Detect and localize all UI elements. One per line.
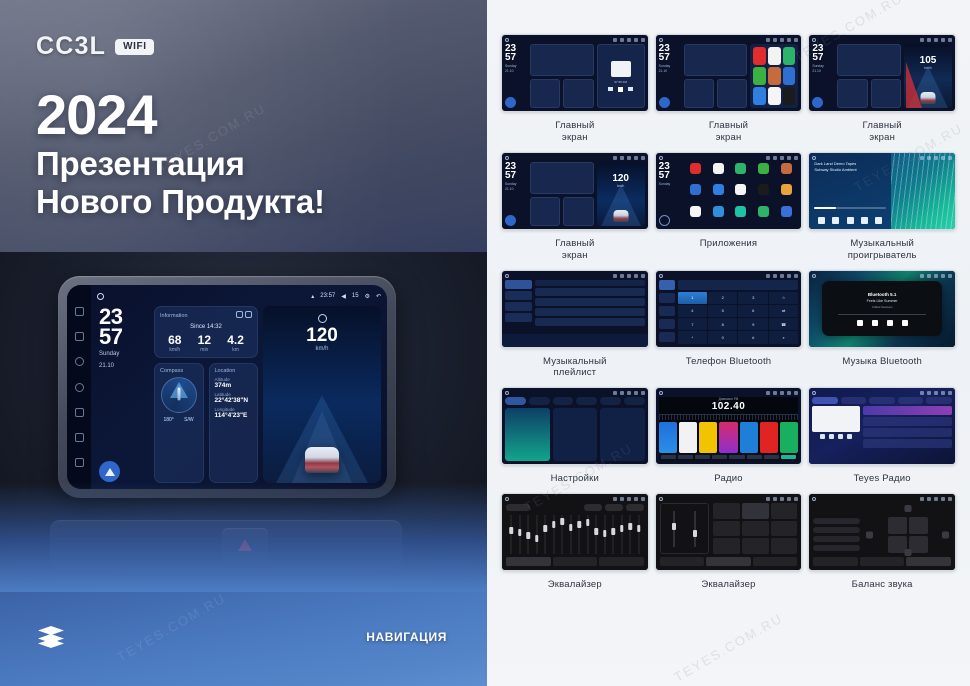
- dial-key[interactable]: ☆: [769, 292, 798, 304]
- dial-key[interactable]: 6: [738, 305, 767, 317]
- information-card[interactable]: [530, 44, 594, 76]
- back-icon[interactable]: [794, 497, 798, 501]
- playlist-tabs[interactable]: [535, 280, 645, 286]
- rail-next-icon[interactable]: [75, 332, 84, 341]
- app-icon[interactable]: [753, 87, 766, 105]
- thumb-bluetooth-phone-caption: Телефон Bluetooth: [686, 356, 772, 368]
- eq-band-slider[interactable]: [508, 515, 514, 554]
- gear-icon[interactable]: [941, 156, 945, 160]
- toolbar-button[interactable]: [712, 455, 727, 459]
- dial-key[interactable]: 0: [708, 331, 737, 343]
- app-icon[interactable]: [768, 67, 781, 85]
- tab-item[interactable]: [869, 397, 895, 404]
- dial-key[interactable]: ☎: [769, 318, 798, 330]
- app-icon[interactable]: [768, 47, 781, 65]
- eq-band-slider[interactable]: [550, 515, 556, 554]
- back-icon[interactable]: [948, 497, 952, 501]
- eq-band-slider[interactable]: [610, 515, 616, 554]
- home-icon[interactable]: [505, 391, 509, 395]
- preset-station[interactable]: [679, 422, 697, 453]
- home-icon[interactable]: [812, 274, 816, 278]
- list-item[interactable]: [535, 318, 645, 326]
- toolbar-button[interactable]: [729, 455, 744, 459]
- tab-item[interactable]: [926, 397, 952, 404]
- back-icon[interactable]: [641, 156, 645, 160]
- toolbar-button[interactable]: [764, 455, 779, 459]
- dial-key[interactable]: *: [678, 331, 707, 343]
- gallery-cell: 23 57 Sunday21.10 Главный экран: [655, 34, 803, 144]
- hud-panel[interactable]: 120 km/h: [597, 162, 645, 226]
- dial-key[interactable]: 7: [678, 318, 707, 330]
- option-row[interactable]: [813, 536, 860, 542]
- sidebar-item-favorites[interactable]: [505, 302, 532, 311]
- app-item[interactable]: [708, 206, 729, 225]
- information-card[interactable]: [684, 44, 748, 76]
- thumb-radio-caption: Радио: [714, 473, 742, 485]
- tab-fader[interactable]: [860, 557, 905, 566]
- tab-Wi-Fi[interactable]: [505, 397, 526, 405]
- navigation-button[interactable]: [812, 97, 823, 108]
- settings-tabs: [505, 397, 645, 405]
- preset-button[interactable]: [771, 503, 798, 519]
- thumb-home-screen-nav[interactable]: 23 57 Sunday21.10 120 km/h: [501, 152, 649, 230]
- eq-band-slider[interactable]: [559, 515, 565, 554]
- arrow-down-icon[interactable]: [904, 549, 911, 556]
- tab-equalizer[interactable]: [506, 557, 551, 566]
- dial-key[interactable]: 9: [738, 318, 767, 330]
- next-icon[interactable]: [861, 217, 868, 224]
- clock-column: 23 57 Sunday21.10: [505, 162, 527, 226]
- gallery-cell: Teyes Радио: [808, 387, 956, 485]
- app-icon[interactable]: [768, 87, 781, 105]
- arrow-left-icon[interactable]: [866, 531, 873, 538]
- pause-icon[interactable]: [847, 217, 854, 224]
- home-icon[interactable]: [505, 274, 509, 278]
- equalizer-footer-tabs: [506, 557, 644, 566]
- preset-button[interactable]: [742, 503, 769, 519]
- clock-icon: [773, 497, 777, 501]
- thumb-home-screen-media[interactable]: 23 57 Sunday21.10 97.50 FM: [501, 34, 649, 112]
- gear-icon[interactable]: [941, 497, 945, 501]
- thumb-music-playlist[interactable]: [501, 270, 649, 348]
- back-icon[interactable]: [641, 497, 645, 501]
- dial-key[interactable]: 8: [708, 318, 737, 330]
- information-card[interactable]: Information Since 14:32 68 km/h: [154, 306, 258, 358]
- eq-band-slider[interactable]: [627, 515, 633, 554]
- thumb-applications[interactable]: 23 57 Sunday: [655, 152, 803, 230]
- dial-key[interactable]: 3: [738, 292, 767, 304]
- compass-card[interactable]: Compass 180° S/W: [154, 363, 204, 483]
- navigation-button[interactable]: [99, 461, 120, 482]
- thumb-bluetooth-music[interactable]: Bluetooth 5.1 Feels Like Summer Chilled …: [808, 270, 956, 348]
- speaker-front-left[interactable]: [888, 517, 907, 534]
- car-graphic: [613, 210, 628, 222]
- dial-key[interactable]: 2: [708, 292, 737, 304]
- thumb-radio[interactable]: Диапазон FM 102.40: [655, 387, 803, 465]
- rail-back-icon[interactable]: [75, 408, 84, 417]
- app-item[interactable]: [776, 163, 797, 182]
- stop-icon[interactable]: [829, 434, 834, 439]
- back-icon[interactable]: [948, 274, 952, 278]
- dial-key[interactable]: 1: [678, 292, 707, 304]
- phone-number-field[interactable]: [678, 280, 799, 290]
- compass-card[interactable]: [530, 79, 560, 108]
- eq-band-slider[interactable]: [516, 515, 522, 554]
- speaker-rear-right[interactable]: [909, 536, 928, 553]
- home-icon[interactable]: [812, 497, 816, 501]
- back-icon[interactable]: [641, 391, 645, 395]
- next-icon[interactable]: [838, 434, 843, 439]
- preset-station[interactable]: [760, 422, 778, 453]
- thumb-home-screen-apps[interactable]: 23 57 Sunday21.10: [655, 34, 803, 112]
- dial-key[interactable]: ⌕: [769, 331, 798, 343]
- gear-icon[interactable]: [634, 274, 638, 278]
- tab-Звук[interactable]: [529, 397, 550, 405]
- search-icon[interactable]: [678, 455, 693, 459]
- refresh-icon[interactable]: [236, 311, 243, 318]
- progress-bar[interactable]: [838, 314, 926, 315]
- tab-balance[interactable]: [599, 557, 644, 566]
- tab-item[interactable]: [812, 397, 838, 404]
- clock-minutes: 57: [659, 53, 681, 62]
- eq-band-slider[interactable]: [567, 515, 573, 554]
- previous-icon[interactable]: [820, 434, 825, 439]
- list-item[interactable]: [535, 298, 645, 306]
- arrow-up-icon[interactable]: [904, 505, 911, 512]
- clock-icon: [620, 38, 624, 42]
- rail-power-icon[interactable]: [75, 357, 84, 366]
- app-item[interactable]: [685, 184, 706, 203]
- dial-key[interactable]: ⇄: [769, 305, 798, 317]
- clock-icon: [927, 38, 931, 42]
- player-controls[interactable]: [857, 320, 908, 326]
- thumb-applications-status-bar: [659, 155, 799, 161]
- preset-button[interactable]: [626, 504, 644, 511]
- gear-icon[interactable]: [634, 497, 638, 501]
- album-art: [611, 61, 631, 77]
- preset-button[interactable]: [771, 538, 798, 554]
- app-item[interactable]: [731, 163, 752, 182]
- list-item[interactable]: [535, 288, 645, 296]
- app-item[interactable]: [753, 163, 774, 182]
- sidebar-item-history[interactable]: [659, 319, 675, 329]
- location-card[interactable]: [563, 197, 593, 226]
- wifi-badge: WIFI: [115, 39, 154, 55]
- rail-home-icon[interactable]: [75, 383, 84, 392]
- fader-slider[interactable]: [673, 511, 675, 547]
- gallery-cell: 23 57 Sunday21.10 105 km/h Главный экран: [808, 34, 956, 144]
- gear-icon[interactable]: [787, 274, 791, 278]
- car-graphic: [305, 447, 339, 473]
- preset-station[interactable]: [659, 422, 677, 453]
- eq-band-slider[interactable]: [584, 515, 590, 554]
- location-card[interactable]: [717, 79, 747, 108]
- preset-button[interactable]: [771, 521, 798, 537]
- compass-card[interactable]: [684, 79, 714, 108]
- compass-card[interactable]: [837, 79, 867, 108]
- settings-card[interactable]: [600, 408, 645, 461]
- arrow-right-icon[interactable]: [942, 531, 949, 538]
- previous-icon[interactable]: [857, 320, 863, 326]
- back-icon[interactable]: [641, 38, 645, 42]
- tab-balance[interactable]: [753, 557, 798, 566]
- play-pause-icon[interactable]: [872, 320, 878, 326]
- navigation-button[interactable]: [505, 97, 516, 108]
- list-item[interactable]: [535, 308, 645, 316]
- tab-Общие[interactable]: [600, 397, 621, 405]
- dial-key[interactable]: #: [738, 331, 767, 343]
- volume-icon: [627, 156, 631, 160]
- hud-panel[interactable]: 105 km/h: [904, 44, 952, 108]
- toolbar-button[interactable]: [661, 455, 676, 459]
- thumb-equalizer-bands-status-bar: [505, 496, 645, 502]
- eq-band-slider[interactable]: [525, 515, 531, 554]
- preset-button[interactable]: [584, 504, 602, 511]
- home-icon[interactable]: [659, 274, 663, 278]
- home-icon[interactable]: [812, 391, 816, 395]
- back-icon[interactable]: [948, 156, 952, 160]
- gear-icon[interactable]: [634, 38, 638, 42]
- playlist-mini-player[interactable]: [502, 334, 648, 347]
- app-item[interactable]: [776, 206, 797, 225]
- option-row[interactable]: [813, 527, 860, 533]
- back-icon[interactable]: [794, 391, 798, 395]
- back-icon[interactable]: [794, 38, 798, 42]
- settings-icon[interactable]: ⚙: [365, 293, 370, 300]
- list-item[interactable]: [863, 428, 952, 437]
- tab-Система[interactable]: [553, 397, 574, 405]
- dial-key[interactable]: 5: [708, 305, 737, 317]
- preset-button[interactable]: [713, 503, 740, 519]
- eq-band-slider[interactable]: [576, 515, 582, 554]
- previous-icon[interactable]: [832, 217, 839, 224]
- toolbar-button-active[interactable]: [781, 455, 796, 459]
- sidebar-item-albums[interactable]: [505, 291, 532, 300]
- clock-icon: [927, 391, 931, 395]
- settings-card[interactable]: [553, 408, 598, 461]
- thumb-settings[interactable]: [501, 387, 649, 465]
- tab-balance[interactable]: [906, 557, 951, 566]
- information-card[interactable]: [530, 162, 594, 194]
- tab-equalizer[interactable]: [813, 557, 858, 566]
- app-item[interactable]: [776, 184, 797, 203]
- gear-icon[interactable]: [787, 156, 791, 160]
- thumb-equalizer-faders[interactable]: [655, 493, 803, 571]
- rail-prev-icon[interactable]: [75, 307, 84, 316]
- location-card[interactable]: [563, 79, 593, 108]
- preset-button[interactable]: [713, 538, 740, 554]
- location-card[interactable]: [871, 79, 901, 108]
- volume-icon: [780, 156, 784, 160]
- stop-icon[interactable]: [887, 320, 893, 326]
- gear-icon[interactable]: [941, 274, 945, 278]
- preset-station[interactable]: [699, 422, 717, 453]
- widgets-column: Information Since 14:32 68 km/h: [154, 306, 258, 483]
- eq-band-slider[interactable]: [618, 515, 624, 554]
- home-icon[interactable]: [812, 156, 816, 160]
- sidebar-item-folders[interactable]: [505, 313, 532, 322]
- thumb-equalizer-bands[interactable]: [501, 493, 649, 571]
- app-item[interactable]: [708, 163, 729, 182]
- app-icon[interactable]: [753, 67, 766, 85]
- clock-icon: [620, 156, 624, 160]
- navigation-button[interactable]: [505, 215, 516, 226]
- home-icon[interactable]: [505, 156, 509, 160]
- app-icon[interactable]: [783, 87, 796, 105]
- app-icon[interactable]: [783, 47, 796, 65]
- gear-icon[interactable]: [634, 391, 638, 395]
- wifi-icon: [766, 391, 770, 395]
- eq-band-slider[interactable]: [542, 515, 548, 554]
- radio-frequency: 102.40: [659, 401, 799, 412]
- home-icon[interactable]: [97, 293, 104, 300]
- radio-tuning-scale[interactable]: [659, 414, 799, 420]
- speaker-front-right[interactable]: [909, 517, 928, 534]
- back-icon[interactable]: ↶: [376, 293, 381, 300]
- shuffle-icon[interactable]: [818, 217, 825, 224]
- wifi-icon: [920, 38, 924, 42]
- back-icon[interactable]: [794, 156, 798, 160]
- dialpad-main: 123☆456⇄789☎*0#⌕: [678, 280, 799, 344]
- list-item[interactable]: [863, 439, 952, 448]
- tab-item[interactable]: [898, 397, 924, 404]
- list-item[interactable]: [863, 417, 952, 426]
- preset-button[interactable]: [605, 504, 623, 511]
- home-icon[interactable]: [659, 156, 663, 160]
- tab-item[interactable]: [841, 397, 867, 404]
- thumb-home-screen-hud[interactable]: 23 57 Sunday21.10 105 km/h: [808, 34, 956, 112]
- thumb-music-player[interactable]: Dark Land Demo Tapes Subway Studio Ambie…: [808, 152, 956, 230]
- hud-panel[interactable]: 120 km/h: [263, 306, 381, 483]
- gear-icon[interactable]: [787, 497, 791, 501]
- eq-band-slider[interactable]: [593, 515, 599, 554]
- thumb-sound-balance[interactable]: [808, 493, 956, 571]
- home-icon[interactable]: [659, 38, 663, 42]
- brand-logo: CC3L WIFI: [36, 32, 154, 61]
- gear-icon[interactable]: [787, 38, 791, 42]
- repeat-icon[interactable]: [875, 217, 882, 224]
- speaker-pad[interactable]: [888, 517, 928, 553]
- media-controls[interactable]: [608, 87, 633, 92]
- player-info: Dark Land Demo Tapes Subway Studio Ambie…: [809, 153, 891, 229]
- sidebar-item-tracks[interactable]: [505, 280, 532, 289]
- compass-heading: 180°: [160, 415, 177, 425]
- app-item[interactable]: [685, 163, 706, 182]
- screen-body: 23 57 Sunday 21.10 Informa: [97, 306, 381, 483]
- eq-band-slider[interactable]: [601, 515, 607, 554]
- app-item[interactable]: [753, 206, 774, 225]
- rail-volume-down-icon[interactable]: [75, 433, 84, 442]
- app-item[interactable]: [731, 184, 752, 203]
- app-item[interactable]: [685, 206, 706, 225]
- compass-card[interactable]: [530, 197, 560, 226]
- fader-slider[interactable]: [694, 511, 696, 547]
- quick-apps-widget[interactable]: [750, 44, 798, 108]
- navigation-button[interactable]: [659, 97, 670, 108]
- dial-key[interactable]: 4: [678, 305, 707, 317]
- gear-icon[interactable]: [941, 391, 945, 395]
- information-card[interactable]: [837, 44, 901, 76]
- home-icon[interactable]: [505, 38, 509, 42]
- eq-band-slider[interactable]: [533, 515, 539, 554]
- progress-bar[interactable]: [814, 207, 886, 209]
- clock-minutes: 57: [659, 171, 681, 180]
- phone-sidebar[interactable]: [659, 280, 675, 344]
- eq-band-slider[interactable]: [635, 515, 641, 554]
- volume-icon: ◀: [341, 293, 346, 300]
- option-row[interactable]: [813, 545, 860, 551]
- now-playing: [812, 406, 859, 461]
- app-item[interactable]: [753, 184, 774, 203]
- media-widget[interactable]: 97.50 FM: [597, 44, 645, 108]
- preset-button[interactable]: [742, 538, 769, 554]
- gear-icon[interactable]: [787, 391, 791, 395]
- gallery-cell: Диапазон FM 102.40 Радио: [655, 387, 803, 485]
- preset-button[interactable]: [713, 521, 740, 537]
- preset-button[interactable]: [742, 521, 769, 537]
- preset-station[interactable]: [740, 422, 758, 453]
- tab-Другое[interactable]: [624, 397, 645, 405]
- back-icon[interactable]: [794, 274, 798, 278]
- option-row[interactable]: [813, 518, 860, 524]
- app-icon[interactable]: [753, 47, 766, 65]
- preset-station[interactable]: [780, 422, 798, 453]
- home-icon[interactable]: [659, 391, 663, 395]
- tab-fader[interactable]: [706, 557, 751, 566]
- back-icon[interactable]: [641, 274, 645, 278]
- gear-icon[interactable]: [941, 38, 945, 42]
- thumb-bluetooth-phone[interactable]: 123☆456⇄789☎*0#⌕: [655, 270, 803, 348]
- next-icon[interactable]: [902, 320, 908, 326]
- tab-Экран[interactable]: [576, 397, 597, 405]
- toolbar-button[interactable]: [747, 455, 762, 459]
- expand-icon[interactable]: [245, 311, 252, 318]
- sidebar-item-dialpad[interactable]: [659, 280, 675, 290]
- home-icon[interactable]: [505, 497, 509, 501]
- player-controls[interactable]: [812, 434, 859, 439]
- clock-icon: [620, 391, 624, 395]
- gallery-cell: Dark Land Demo Tapes Subway Studio Ambie…: [808, 152, 956, 262]
- back-icon[interactable]: [948, 38, 952, 42]
- home-icon[interactable]: [812, 38, 816, 42]
- app-icon[interactable]: [783, 67, 796, 85]
- settings-card[interactable]: [505, 408, 550, 461]
- favorite-icon[interactable]: [847, 434, 852, 439]
- preset-station[interactable]: [719, 422, 737, 453]
- back-icon[interactable]: [948, 391, 952, 395]
- widgets-bottom-row: [530, 197, 594, 226]
- thumb-teyes-radio[interactable]: [808, 387, 956, 465]
- sidebar-item-settings[interactable]: [659, 332, 675, 342]
- back-button[interactable]: [659, 215, 670, 226]
- toolbar-button[interactable]: [695, 455, 710, 459]
- home-icon[interactable]: [659, 497, 663, 501]
- tab-equalizer[interactable]: [660, 557, 705, 566]
- rail-volume-up-icon[interactable]: [75, 458, 84, 467]
- player-controls[interactable]: [814, 217, 886, 224]
- tab-fader[interactable]: [553, 557, 598, 566]
- app-item[interactable]: [708, 184, 729, 203]
- list-item[interactable]: [863, 406, 952, 415]
- latitude-row: Latitude 22°42'38"N: [215, 392, 253, 404]
- since-label: Since 14:32: [160, 324, 252, 330]
- location-card[interactable]: Location Altitude 374m Latitude 22°42'38…: [209, 363, 259, 483]
- sidebar-item-search[interactable]: [659, 306, 675, 316]
- watermark: TEYES.COM.RU: [671, 610, 785, 684]
- app-item[interactable]: [731, 206, 752, 225]
- sidebar-item-contacts[interactable]: [659, 293, 675, 303]
- gear-icon[interactable]: [634, 156, 638, 160]
